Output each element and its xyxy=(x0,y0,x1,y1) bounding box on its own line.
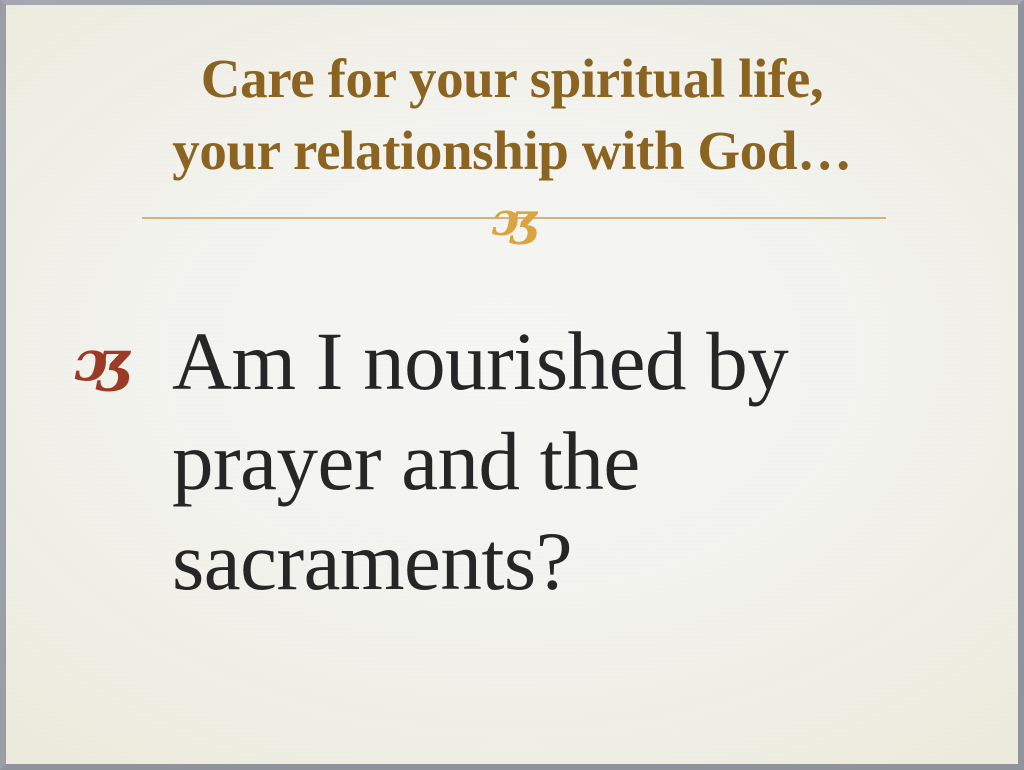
slide-body: ɔʒ Am I nourished by prayer and the sacr… xyxy=(76,311,976,611)
body-line-3: sacraments? xyxy=(172,511,976,611)
title-divider: ɔʒ xyxy=(136,201,892,237)
body-line-2: prayer and the xyxy=(172,411,976,511)
title-line-2: your relationship with God… xyxy=(6,115,1018,187)
body-text-block: Am I nourished by prayer and the sacrame… xyxy=(172,311,976,611)
slide-title: Care for your spiritual life, your relat… xyxy=(6,43,1018,187)
cb-flourish-ornament-icon: ɔʒ xyxy=(136,191,892,247)
slide: Care for your spiritual life, your relat… xyxy=(0,0,1024,770)
cb-flourish-bullet-icon: ɔʒ xyxy=(76,311,172,411)
title-line-1: Care for your spiritual life, xyxy=(6,43,1018,115)
slide-content: Care for your spiritual life, your relat… xyxy=(6,5,1018,764)
body-line-1: Am I nourished by xyxy=(172,311,976,411)
